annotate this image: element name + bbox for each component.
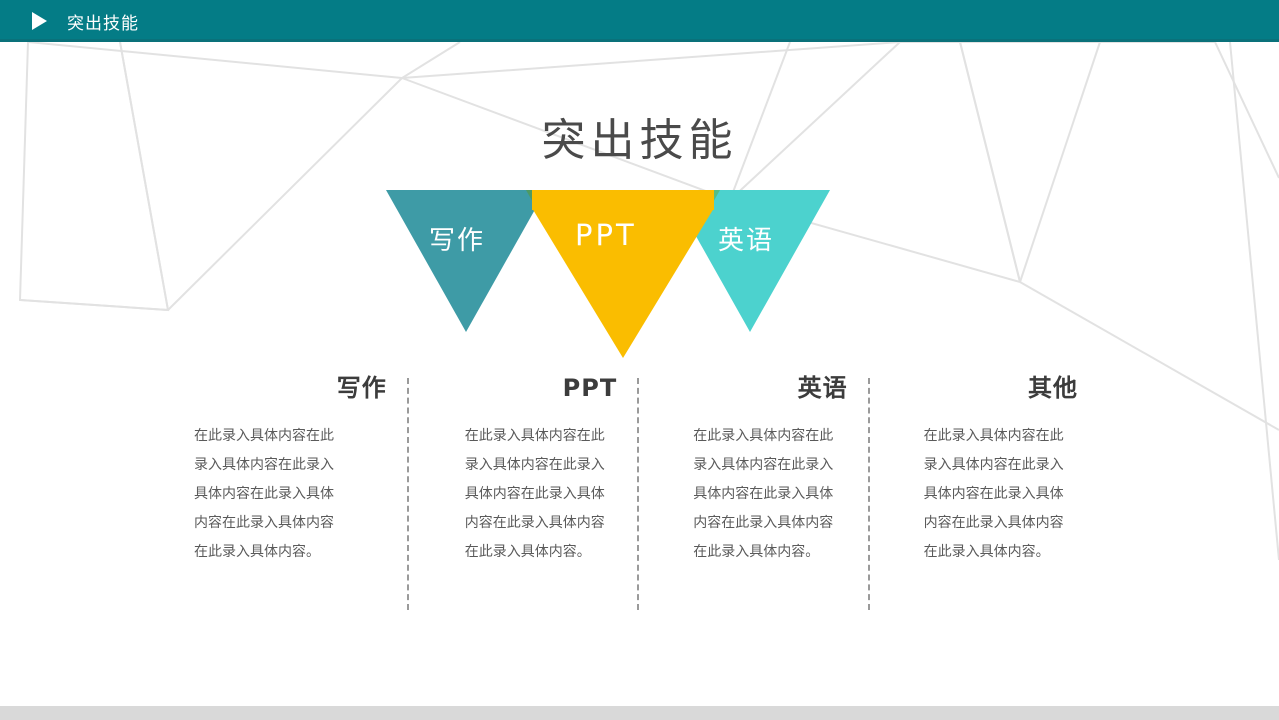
- triangle-label-writing: 写作: [429, 220, 485, 257]
- skill-column-ppt: PPT 在此录入具体内容在此录入具体内容在此录入具体内容在此录入具体内容在此录入…: [409, 376, 639, 612]
- skill-column-english: 英语 在此录入具体内容在此录入具体内容在此录入具体内容在此录入具体内容在此录入具…: [639, 376, 869, 612]
- column-heading: PPT: [431, 376, 617, 400]
- skill-column-other: 其他 在此录入具体内容在此录入具体内容在此录入具体内容在此录入具体内容在此录入具…: [870, 376, 1100, 612]
- skills-triangle-diagram: 写作 PPT 英语: [380, 186, 840, 366]
- play-triangle-icon[interactable]: [32, 12, 47, 30]
- header-title: 突出技能: [67, 9, 139, 34]
- column-heading: 其他: [892, 376, 1078, 400]
- triangle-shape-ppt-top: [532, 190, 714, 210]
- skills-columns: 写作 在此录入具体内容在此录入具体内容在此录入具体内容在此录入具体内容在此录入具…: [180, 376, 1100, 612]
- slide-canvas: 突出技能 突出技能 写作 PPT 英语 写作 在此录入具体内容在此录入具体内容在…: [0, 0, 1279, 706]
- footer-bar: [0, 706, 1279, 720]
- triangle-graphic: [380, 186, 840, 366]
- header-bar: 突出技能: [0, 0, 1279, 42]
- skill-column-writing: 写作 在此录入具体内容在此录入具体内容在此录入具体内容在此录入具体内容在此录入具…: [180, 376, 409, 612]
- column-body-text: 在此录入具体内容在此录入具体内容在此录入具体内容在此录入具体内容在此录入具体内容…: [693, 422, 843, 567]
- column-heading: 英语: [661, 376, 847, 400]
- column-body-text: 在此录入具体内容在此录入具体内容在此录入具体内容在此录入具体内容在此录入具体内容…: [465, 422, 615, 567]
- triangle-label-english: 英语: [718, 220, 774, 257]
- column-body-text: 在此录入具体内容在此录入具体内容在此录入具体内容在此录入具体内容在此录入具体内容…: [924, 422, 1074, 567]
- column-heading: 写作: [180, 376, 387, 400]
- column-body-text: 在此录入具体内容在此录入具体内容在此录入具体内容在此录入具体内容在此录入具体内容…: [194, 422, 344, 567]
- page-title: 突出技能: [0, 104, 1279, 168]
- triangle-shape-writing: [386, 190, 546, 332]
- triangle-label-ppt: PPT: [575, 218, 637, 252]
